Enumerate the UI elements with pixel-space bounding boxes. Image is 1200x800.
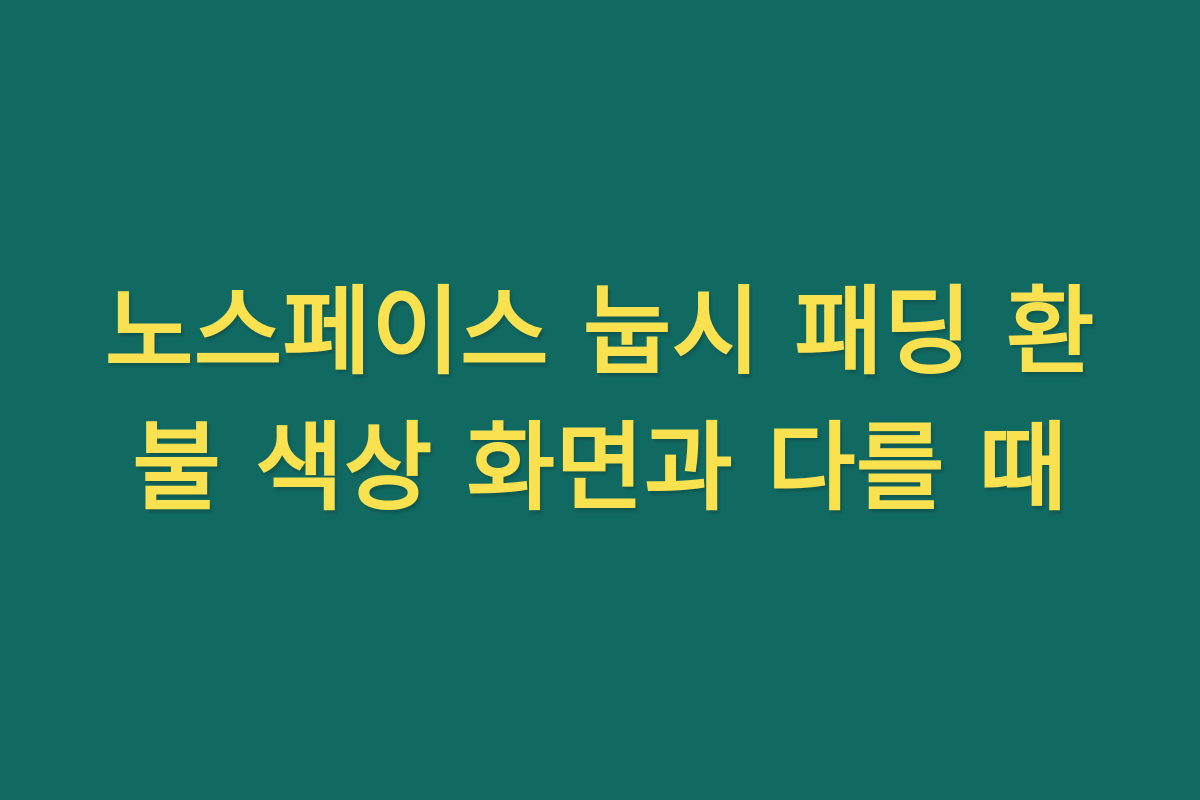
headline-block: 노스페이스 눕시 패딩 환 불 색상 화면과 다를 때: [70, 264, 1130, 537]
text-banner: 노스페이스 눕시 패딩 환 불 색상 화면과 다를 때: [0, 0, 1200, 800]
headline-line-2: 불 색상 화면과 다를 때: [78, 400, 1122, 536]
headline-line-1: 노스페이스 눕시 패딩 환: [78, 264, 1122, 400]
